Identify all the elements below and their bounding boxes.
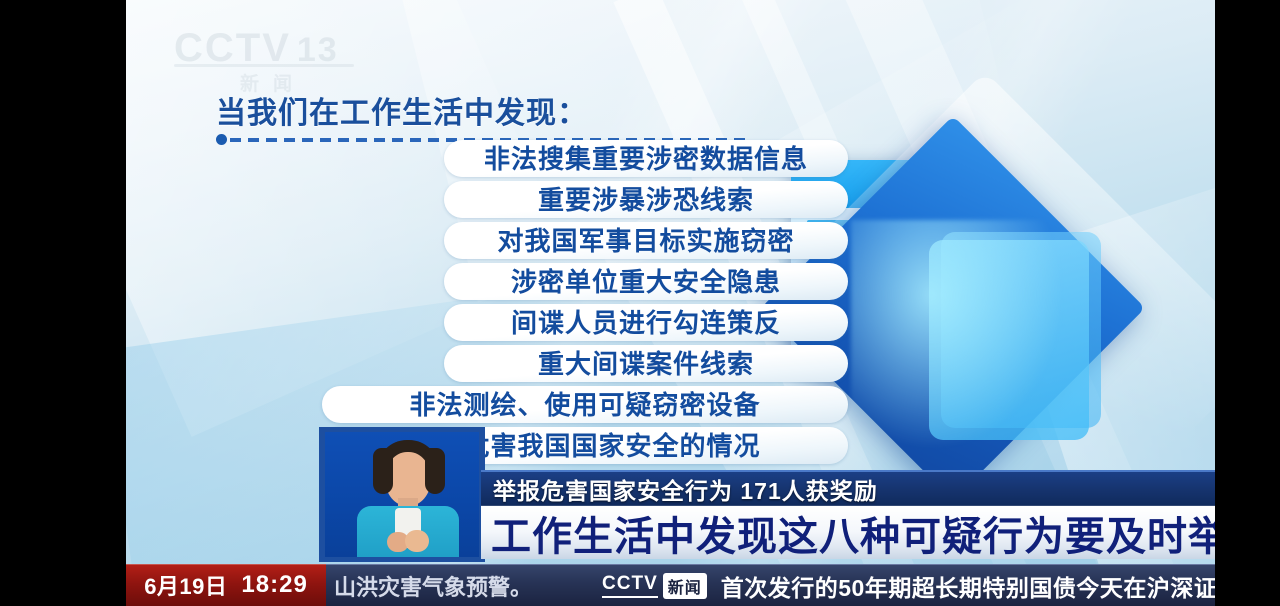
broadcast-date: 6月19日 xyxy=(144,569,227,601)
video-content-area: CCTV13 新闻 当我们在工作生活中发现： xyxy=(126,0,1215,606)
anchor-video xyxy=(325,432,479,557)
watermark-rule xyxy=(174,64,354,67)
list-item-pill: 间谍人员进行勾连策反 xyxy=(444,304,848,341)
main-headline-banner: 工作生活中发现这八种可疑行为要及时举报 xyxy=(481,506,1215,559)
sub-headline-text: 举报危害国家安全行为 171人获奖励 xyxy=(493,472,878,506)
list-item-pill: 非法搜集重要涉密数据信息 xyxy=(444,140,848,177)
list-item-pill: 对我国军事目标实施窃密 xyxy=(444,222,848,259)
watermark-cctv-text: CCTV xyxy=(174,26,291,70)
list-item-pill: 非法测绘、使用可疑窃密设备 xyxy=(322,386,848,423)
date-time-box: 6月19日 18:29 xyxy=(126,564,326,606)
sub-headline-banner: 举报危害国家安全行为 171人获奖励 xyxy=(481,470,1215,506)
list-item-label: 重大间谍案件线索 xyxy=(538,351,754,377)
right-pillarbox xyxy=(1215,0,1280,606)
bottom-bar: 6月19日 18:29 山洪灾害气象预警。 CCTV 新闻 首次发行的50年期超… xyxy=(126,564,1215,606)
list-item: 非法搜集重要涉密数据信息 xyxy=(126,140,1215,181)
list-item-pill: 涉密单位重大安全隐患 xyxy=(444,263,848,300)
cctv-badge-sub-text: 新闻 xyxy=(663,573,707,599)
list-item: 重大间谍案件线索 xyxy=(126,345,1215,386)
list-item: 非法测绘、使用可疑窃密设备 xyxy=(126,386,1215,427)
watermark-main-text: CCTV13 xyxy=(174,28,404,68)
slide-headline-text: 当我们在工作生活中发现： xyxy=(216,88,736,132)
news-ticker: 山洪灾害气象预警。 CCTV 新闻 首次发行的50年期超长期特别国债今天在沪深证… xyxy=(326,564,1215,606)
anchor-hair-right xyxy=(425,448,445,494)
list-item: 可能危害我国国家安全的情况 xyxy=(126,427,1215,468)
cctv-news-badge: CCTV 新闻 xyxy=(602,573,707,599)
left-pillarbox xyxy=(0,0,126,606)
anchor-hair-left xyxy=(373,448,393,494)
anchor-hand-right xyxy=(405,530,429,552)
cctv-badge-main-text: CCTV xyxy=(602,573,658,598)
broadcast-time: 18:29 xyxy=(241,571,307,599)
list-item-label: 非法搜集重要涉密数据信息 xyxy=(484,146,808,172)
slide-headline: 当我们在工作生活中发现： xyxy=(216,88,736,144)
list-item-pill: 重要涉暴涉恐线索 xyxy=(444,181,848,218)
list-item-label: 重要涉暴涉恐线索 xyxy=(538,187,754,213)
sign-language-anchor-inset xyxy=(319,427,485,562)
list-item-label: 对我国军事目标实施窃密 xyxy=(497,228,794,254)
list-item-label: 间谍人员进行勾连策反 xyxy=(511,310,781,336)
list-item: 涉密单位重大安全隐患 xyxy=(126,263,1215,304)
list-item-label: 涉密单位重大安全隐患 xyxy=(511,269,781,295)
ticker-left-text: 山洪灾害气象预警。 xyxy=(326,570,532,602)
suspicious-behaviour-list: 非法搜集重要涉密数据信息 重要涉暴涉恐线索 对我国军事目标实施窃密 涉密单位重大… xyxy=(126,140,1215,468)
list-item: 间谍人员进行勾连策反 xyxy=(126,304,1215,345)
watermark-channel-number: 13 xyxy=(291,31,339,69)
list-item-pill: 重大间谍案件线索 xyxy=(444,345,848,382)
list-item-label: 非法测绘、使用可疑窃密设备 xyxy=(409,392,760,418)
list-item: 对我国军事目标实施窃密 xyxy=(126,222,1215,263)
main-headline-text: 工作生活中发现这八种可疑行为要及时举报 xyxy=(491,504,1215,562)
lower-third: 举报危害国家安全行为 171人获奖励 工作生活中发现这八种可疑行为要及时举报 xyxy=(481,470,1215,559)
broadcast-frame: CCTV13 新闻 当我们在工作生活中发现： xyxy=(0,0,1280,606)
list-item: 重要涉暴涉恐线索 xyxy=(126,181,1215,222)
ticker-right-text: 首次发行的50年期超长期特别国债今天在沪深证券交易 xyxy=(721,569,1215,603)
